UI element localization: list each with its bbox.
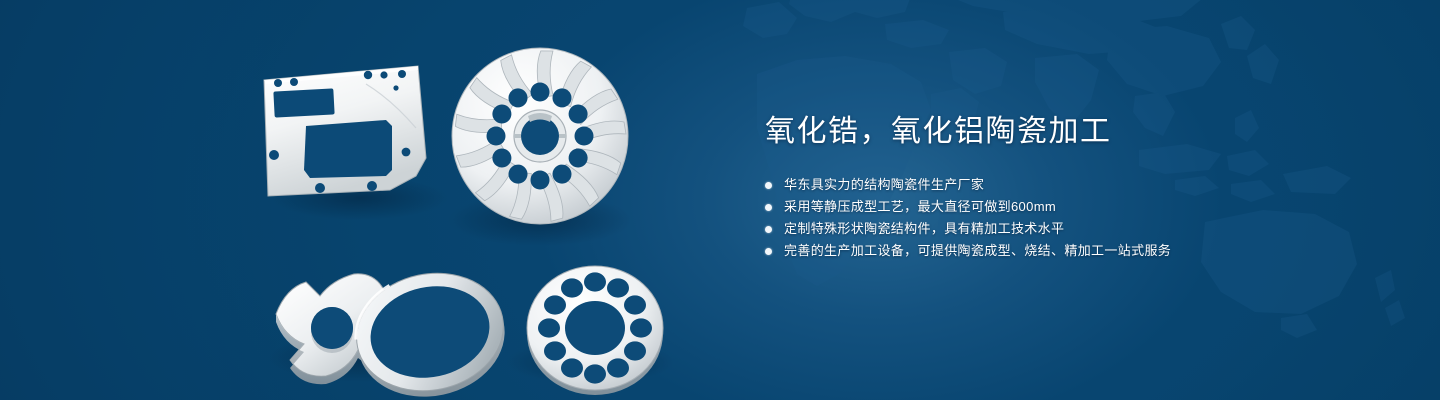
feature-text: 采用等静压成型工艺，最大直径可做到600mm (784, 196, 1056, 218)
feature-text: 华东具实力的结构陶瓷件生产厂家 (784, 174, 984, 196)
page-title: 氧化锆，氧化铝陶瓷加工 (765, 112, 1365, 152)
list-item: 完善的生产加工设备，可提供陶瓷成型、烧结、精加工一站式服务 (765, 240, 1365, 262)
feature-list: 华东具实力的结构陶瓷件生产厂家 采用等静压成型工艺，最大直径可做到600mm 定… (765, 174, 1365, 262)
feature-text: 完善的生产加工设备，可提供陶瓷成型、烧结、精加工一站式服务 (784, 240, 1171, 262)
list-item: 华东具实力的结构陶瓷件生产厂家 (765, 174, 1365, 196)
product-ceramic-impeller (452, 48, 628, 224)
product-photo-group (240, 40, 710, 380)
list-item: 采用等静压成型工艺，最大直径可做到600mm (765, 196, 1365, 218)
bullet-dot-icon (765, 226, 772, 233)
bullet-dot-icon (765, 204, 772, 211)
hero-banner: 氧化锆，氧化铝陶瓷加工 华东具实力的结构陶瓷件生产厂家 采用等静压成型工艺，最大… (0, 0, 1440, 400)
bullet-dot-icon (765, 182, 772, 189)
product-ceramic-hole-disc (527, 266, 663, 395)
marketing-copy: 氧化锆，氧化铝陶瓷加工 华东具实力的结构陶瓷件生产厂家 采用等静压成型工艺，最大… (765, 112, 1365, 262)
bullet-dot-icon (765, 248, 772, 255)
product-ceramic-plate (264, 66, 426, 196)
list-item: 定制特殊形状陶瓷结构件，具有精加工技术水平 (765, 218, 1365, 240)
feature-text: 定制特殊形状陶瓷结构件，具有精加工技术水平 (784, 218, 1064, 240)
